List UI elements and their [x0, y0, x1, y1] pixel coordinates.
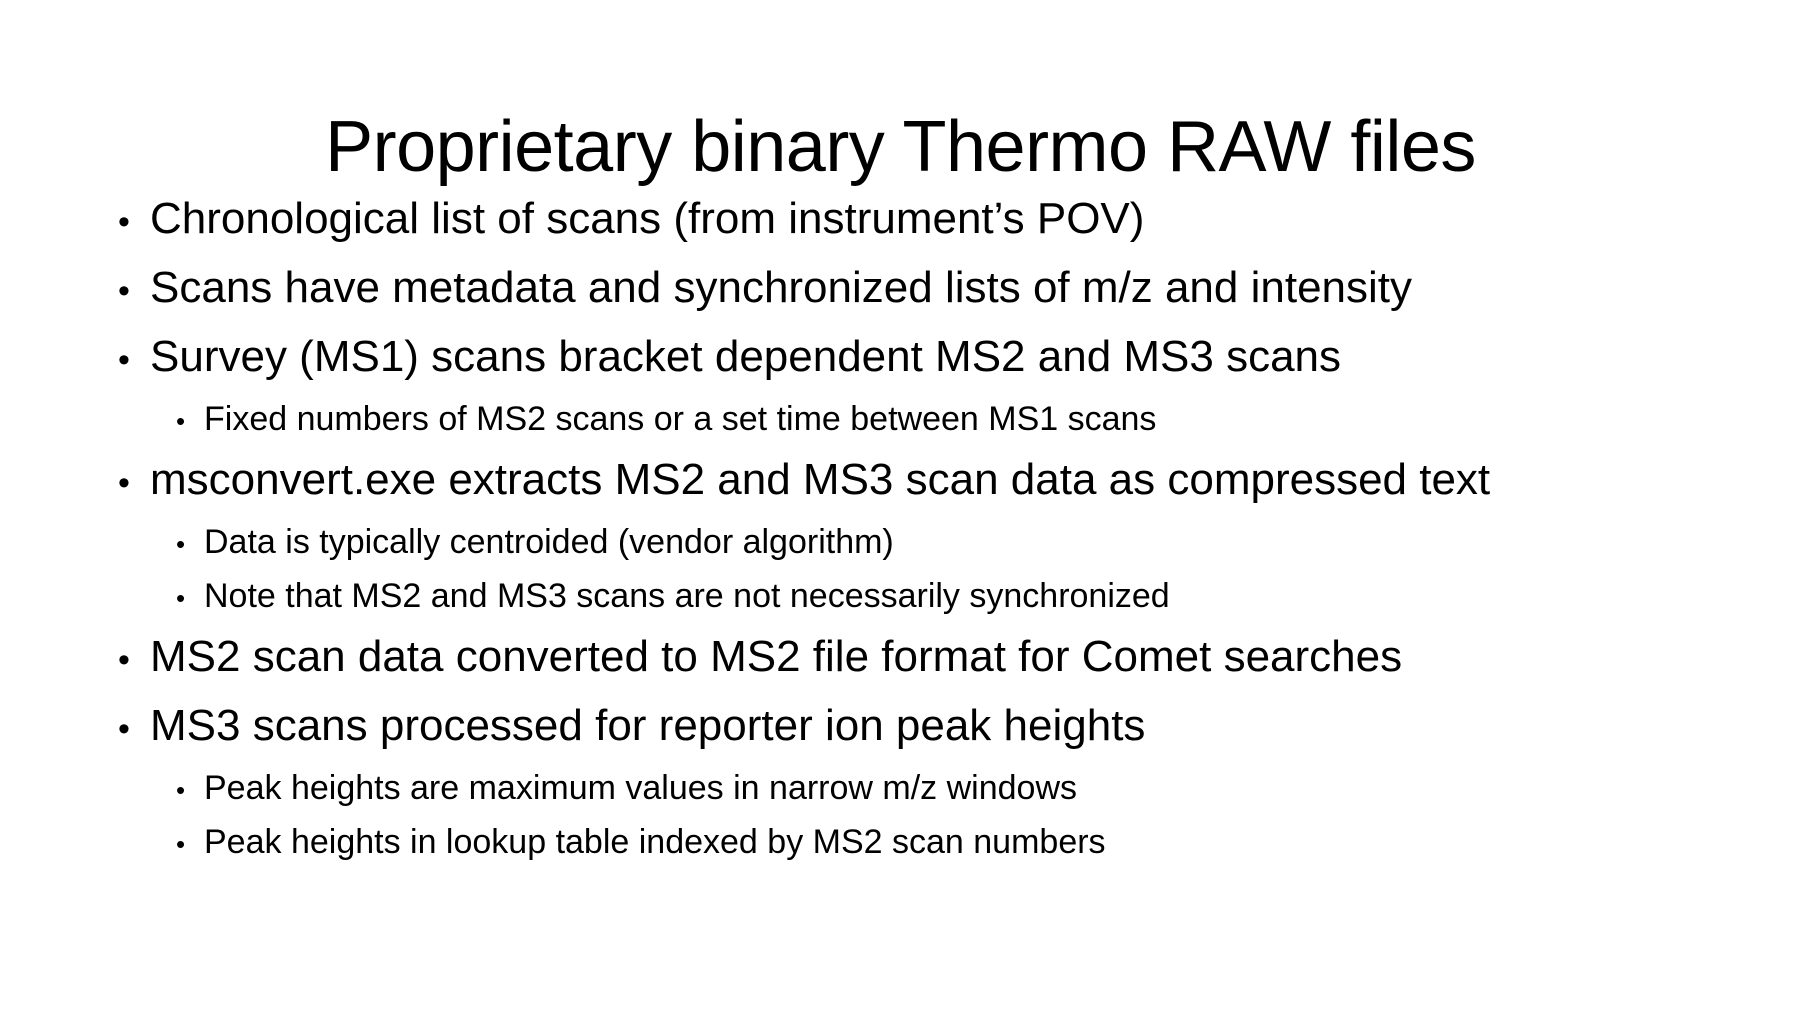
sub-bullet-item: • Note that MS2 and MS3 scans are not ne… — [118, 570, 1718, 624]
bullet-marker-icon: • — [176, 818, 204, 870]
bullet-marker-icon: • — [176, 395, 204, 447]
bullet-marker-icon: • — [176, 572, 204, 624]
bullet-marker-icon: • — [118, 189, 150, 255]
bullet-item: • Chronological list of scans (from inst… — [118, 186, 1718, 255]
bullet-marker-icon: • — [118, 450, 150, 516]
presentation-slide: Proprietary binary Thermo RAW files • Ch… — [0, 0, 1801, 1013]
sub-bullet-item: • Fixed numbers of MS2 scans or a set ti… — [118, 393, 1718, 447]
bullet-item: • MS2 scan data converted to MS2 file fo… — [118, 624, 1718, 693]
bullet-marker-icon: • — [176, 764, 204, 816]
bullet-text: msconvert.exe extracts MS2 and MS3 scan … — [150, 447, 1490, 513]
bullet-marker-icon: • — [118, 627, 150, 693]
sub-bullet-text: Peak heights in lookup table indexed by … — [204, 816, 1106, 868]
bullet-text: Survey (MS1) scans bracket dependent MS2… — [150, 324, 1341, 390]
sub-bullet-item: • Peak heights are maximum values in nar… — [118, 762, 1718, 816]
bullet-text: MS2 scan data converted to MS2 file form… — [150, 624, 1402, 690]
bullet-text: MS3 scans processed for reporter ion pea… — [150, 693, 1145, 759]
bullet-text: Chronological list of scans (from instru… — [150, 186, 1144, 252]
bullet-item: • Survey (MS1) scans bracket dependent M… — [118, 324, 1718, 393]
bullet-item: • MS3 scans processed for reporter ion p… — [118, 693, 1718, 762]
bullet-text: Scans have metadata and synchronized lis… — [150, 255, 1412, 321]
bullet-item: • msconvert.exe extracts MS2 and MS3 sca… — [118, 447, 1718, 516]
bullet-marker-icon: • — [118, 258, 150, 324]
bullet-marker-icon: • — [118, 696, 150, 762]
slide-bullet-list: • Chronological list of scans (from inst… — [118, 186, 1718, 870]
sub-bullet-text: Note that MS2 and MS3 scans are not nece… — [204, 570, 1170, 622]
sub-bullet-item: • Data is typically centroided (vendor a… — [118, 516, 1718, 570]
sub-bullet-item: • Peak heights in lookup table indexed b… — [118, 816, 1718, 870]
bullet-item: • Scans have metadata and synchronized l… — [118, 255, 1718, 324]
bullet-marker-icon: • — [118, 327, 150, 393]
bullet-marker-icon: • — [176, 518, 204, 570]
sub-bullet-text: Peak heights are maximum values in narro… — [204, 762, 1077, 814]
sub-bullet-text: Data is typically centroided (vendor alg… — [204, 516, 894, 568]
sub-bullet-text: Fixed numbers of MS2 scans or a set time… — [204, 393, 1156, 445]
slide-title: Proprietary binary Thermo RAW files — [0, 104, 1801, 190]
